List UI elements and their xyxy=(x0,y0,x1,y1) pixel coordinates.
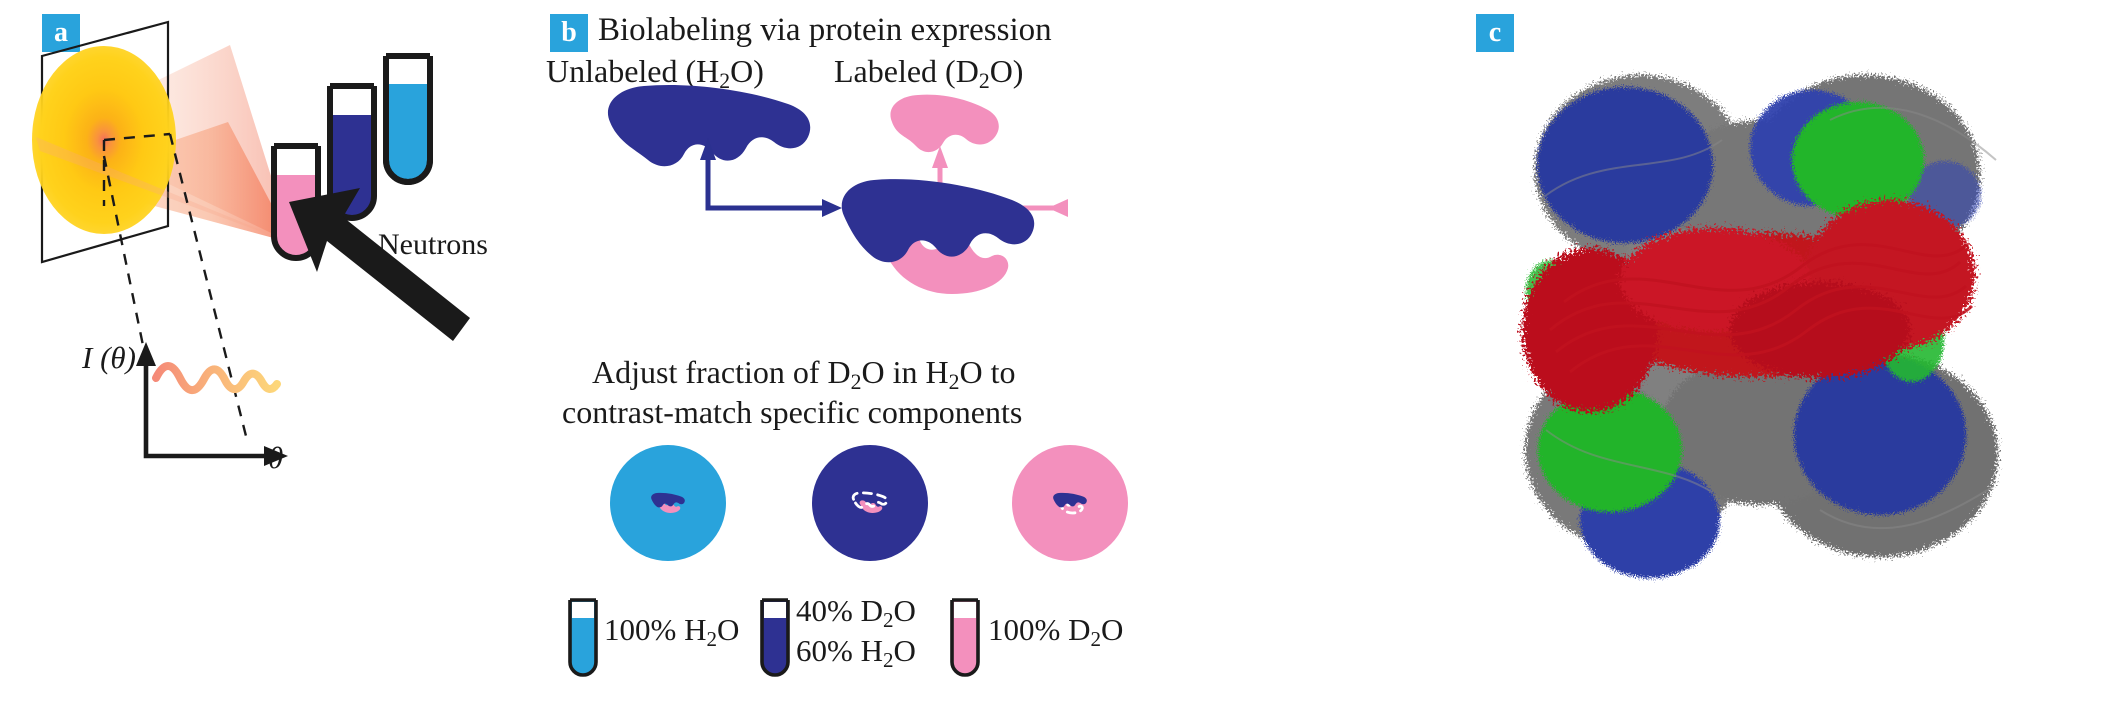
tube-cyan xyxy=(386,56,430,182)
neutron-arrow xyxy=(289,188,470,341)
panel-c: c xyxy=(1460,0,2109,708)
contrast-circle-h2o xyxy=(610,445,726,561)
contrast-circle-d2o xyxy=(1012,445,1128,561)
theta-axis-label: θ xyxy=(268,440,283,476)
legend-label-40-d2o: 40% D2O xyxy=(796,592,916,633)
figure-root: a xyxy=(0,0,2109,708)
neutrons-label: Neutrons xyxy=(378,228,488,262)
scattering-curve xyxy=(156,366,277,390)
legend-tube-pink xyxy=(952,600,978,675)
legend-label-100-h2o: 100% H2O xyxy=(604,612,739,652)
panel-a: a xyxy=(0,0,540,708)
legend-tube-cyan xyxy=(570,600,596,675)
contrast-circle-40d2o xyxy=(812,445,928,561)
legend-tube-navy xyxy=(762,600,788,675)
panel-a-graphics xyxy=(0,0,540,708)
molecular-structure xyxy=(1460,0,2109,708)
intensity-plot-axes xyxy=(136,342,288,466)
panel-b: b Biolabeling via protein expression Unl… xyxy=(540,0,1460,708)
intensity-axis-label: I (θ) xyxy=(82,340,136,376)
legend-label-60-h2o: 60% H2O xyxy=(796,632,916,673)
contrast-circles-graphics xyxy=(540,0,1460,708)
legend-label-100-d2o: 100% D2O xyxy=(988,612,1123,652)
